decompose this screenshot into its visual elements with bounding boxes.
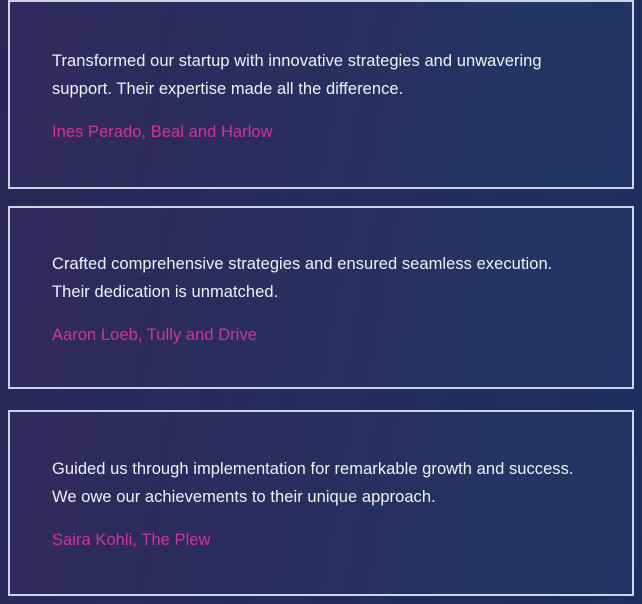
testimonial-card: Guided us through implementation for rem…	[8, 410, 634, 596]
testimonial-quote: Guided us through implementation for rem…	[52, 455, 590, 511]
testimonial-card: Crafted comprehensive strategies and ens…	[8, 206, 634, 389]
testimonials-section: Transformed our startup with innovative …	[0, 0, 642, 604]
testimonial-card: Transformed our startup with innovative …	[8, 0, 634, 189]
testimonial-attribution: Saira Kohli, The Plew	[52, 529, 590, 551]
testimonial-attribution: Aaron Loeb, Tully and Drive	[52, 324, 590, 346]
testimonial-attribution: Ines Perado, Beal and Harlow	[52, 121, 590, 143]
testimonial-quote: Transformed our startup with innovative …	[52, 47, 590, 103]
testimonial-quote: Crafted comprehensive strategies and ens…	[52, 250, 590, 306]
